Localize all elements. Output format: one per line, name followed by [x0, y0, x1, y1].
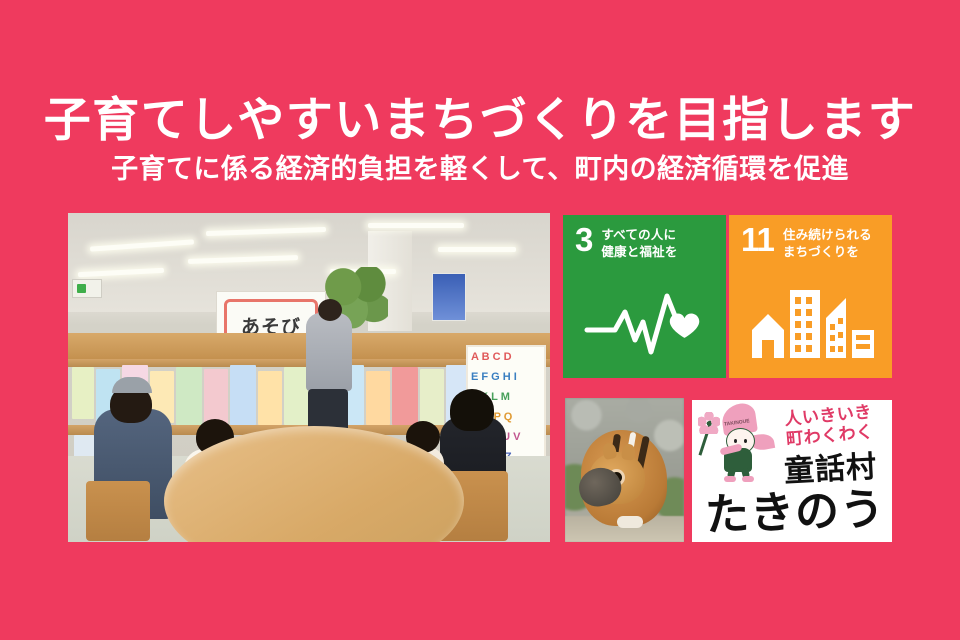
sdg-badge-3: 3 すべての人に 健康と福祉を: [563, 215, 726, 378]
book: [176, 367, 202, 425]
mascot-eye: [744, 439, 747, 443]
library-scene: あそび: [68, 213, 550, 542]
sdg-11-line2: まちづくりを: [783, 244, 872, 261]
book: [392, 367, 418, 425]
mascot-icon: TAKINOUE: [700, 404, 778, 482]
ceiling-light: [438, 247, 516, 252]
cityscape-icon: [729, 272, 892, 372]
page-title: 子育てしやすいまちづくりを目指します: [0, 96, 960, 143]
book: [366, 371, 390, 425]
logo-town-name: たきのうえ: [704, 473, 892, 542]
chipmunk-photo: [565, 398, 684, 542]
exit-sign-icon: [72, 279, 102, 298]
sdg-3-line1: すべての人に: [601, 227, 677, 244]
chipmunk-ear: [621, 443, 636, 461]
sdg-11-line1: 住み続けられる: [783, 227, 872, 244]
chair: [86, 481, 150, 541]
page-subtitle: 子育てに係る経済的負担を軽くして、町内の経済循環を促進: [0, 156, 960, 183]
book: [72, 367, 94, 419]
sdg-11-text: 住み続けられる まちづくりを: [783, 225, 872, 260]
heartbeat-icon: [563, 272, 726, 372]
alphabet-row: A B C D: [468, 347, 544, 367]
alphabet-row: E F G H I: [468, 367, 544, 387]
book: [230, 365, 256, 425]
chipmunk-paw: [617, 516, 643, 528]
slide-root: 子育てしやすいまちづくりを目指します 子育てに係る経済的負担を軽くして、町内の経…: [0, 0, 960, 640]
book: [258, 371, 282, 425]
standing-adult: [306, 313, 352, 391]
sdg-11-number: 11: [741, 225, 774, 255]
library-photo: あそび: [68, 213, 550, 542]
headline-block: 子育てしやすいまちづくりを目指します 子育てに係る経済的負担を軽くして、町内の経…: [0, 96, 960, 183]
standing-adult-head: [318, 299, 342, 321]
mascot-eye: [734, 439, 737, 443]
mascot-flower: [698, 412, 720, 434]
sdg-11-header: 11 住み続けられる まちづくりを: [729, 215, 892, 260]
sdg-3-text: すべての人に 健康と福祉を: [601, 225, 677, 260]
ceiling-light: [368, 223, 464, 228]
wall-poster: [432, 273, 466, 321]
sdg-badge-11: 11 住み続けられる まちづくりを: [729, 215, 892, 378]
sdg-3-header: 3 すべての人に 健康と福祉を: [563, 215, 726, 260]
town-logo: TAKINOUE 人いきいき 町わくわく 童話村 たきのうえ: [692, 400, 892, 542]
book: [204, 369, 228, 425]
sdg-3-line2: 健康と福祉を: [601, 244, 677, 261]
book: [420, 369, 444, 425]
seated-adult-right-head: [450, 389, 494, 431]
sdg-3-number: 3: [575, 225, 592, 255]
